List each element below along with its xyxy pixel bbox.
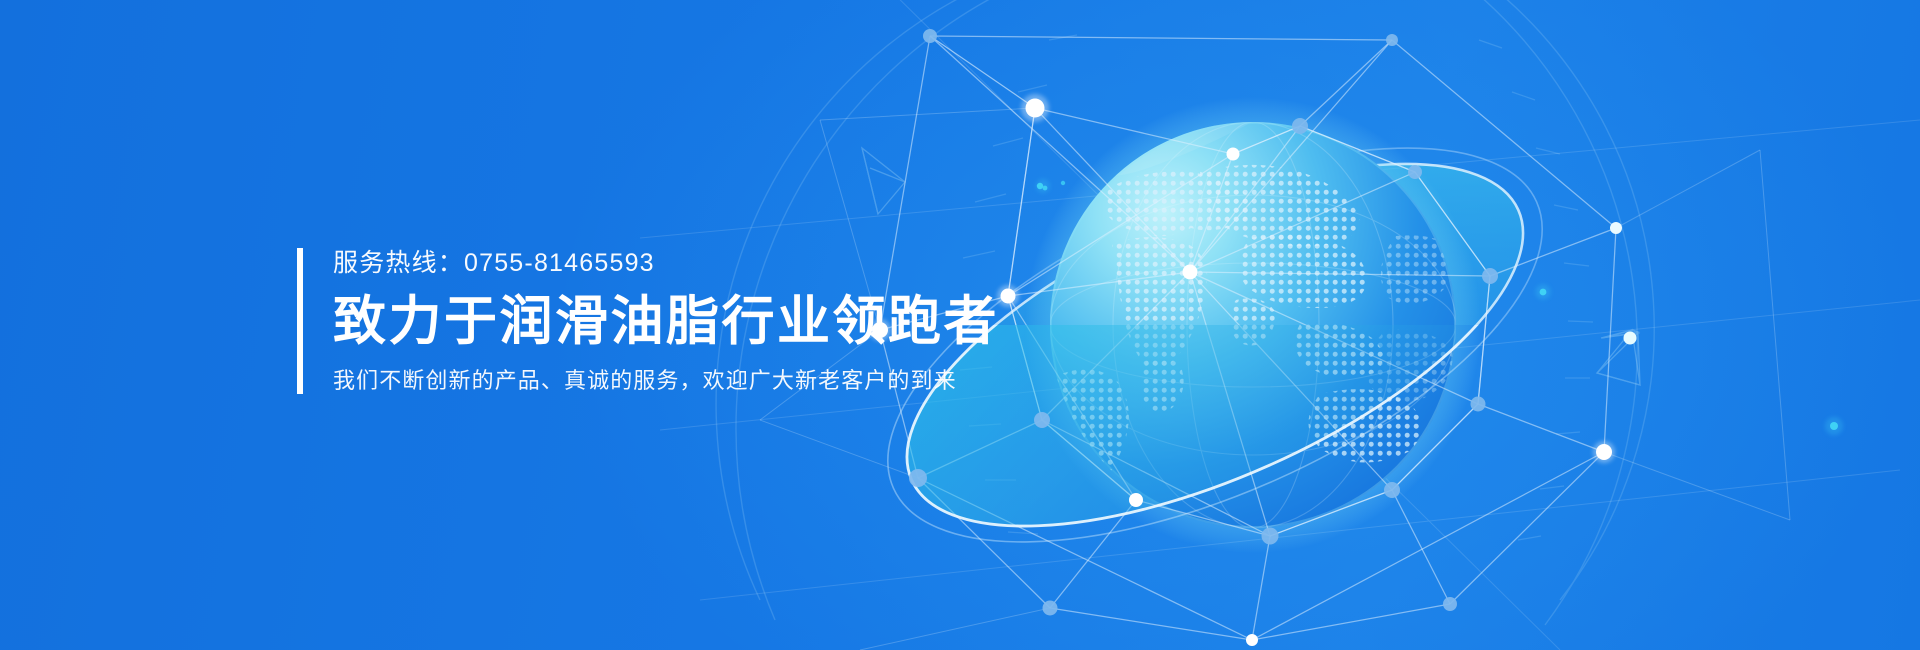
hero-subheadline: 我们不断创新的产品、真诚的服务，欢迎广大新老客户的到来 [333, 368, 999, 394]
node-dot [1034, 412, 1050, 428]
service-hotline: 服务热线：0755-81465593 [333, 248, 999, 278]
node-dot [1292, 118, 1308, 134]
node-dot [1183, 265, 1198, 280]
node-dot [1443, 597, 1457, 611]
node-dot [1246, 634, 1258, 646]
node-dot [1408, 165, 1422, 179]
node-dot [909, 469, 927, 487]
node-dot [1129, 493, 1143, 507]
node-dot [1262, 528, 1279, 545]
node-dot [1227, 148, 1240, 161]
node-dot [1384, 482, 1400, 498]
node-dot [1482, 268, 1498, 284]
hero-banner: 服务热线：0755-81465593 致力于润滑油脂行业领跑者 我们不断创新的产… [0, 0, 1920, 650]
node-dot [1043, 601, 1058, 616]
node-dot [923, 29, 937, 43]
decor-tetrahedron-left [862, 148, 905, 214]
node-dot [1624, 332, 1637, 345]
node-dot [1471, 397, 1486, 412]
hero-headline: 致力于润滑油脂行业领跑者 [333, 293, 999, 351]
node-dot [1386, 34, 1398, 46]
hero-text-block: 服务热线：0755-81465593 致力于润滑油脂行业领跑者 我们不断创新的产… [297, 248, 999, 394]
node-dot [1610, 222, 1622, 234]
